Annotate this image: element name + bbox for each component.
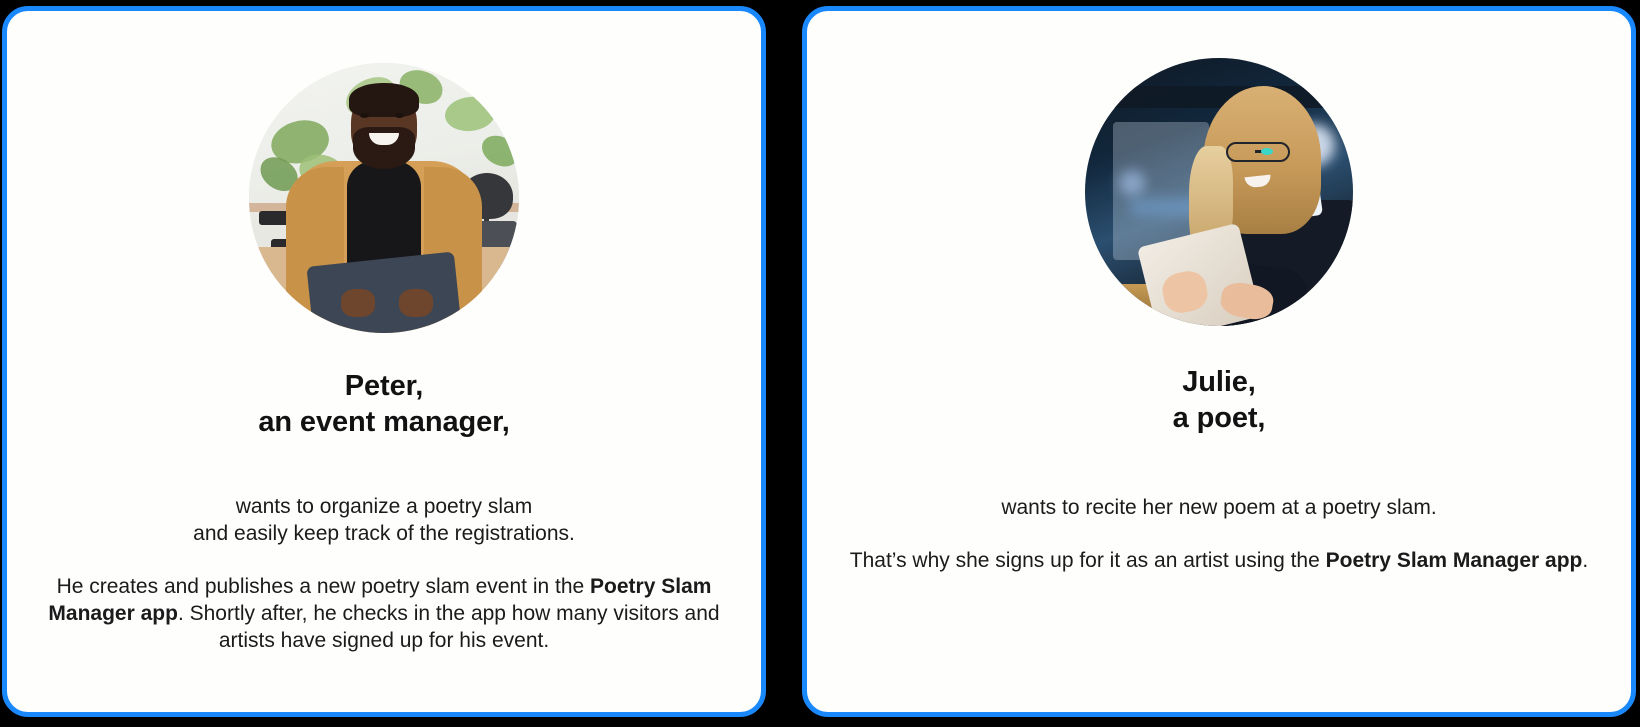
avatar-photo-julie [1085, 58, 1353, 326]
light-glow-icon [1119, 170, 1145, 196]
persona-goal-julie: wants to recite her new poem at a poetry… [849, 494, 1589, 521]
persona-goal-line-1: wants to organize a poetry slam [236, 495, 532, 518]
hand-shape [341, 289, 375, 317]
persona-name-line-1: Julie, [1182, 366, 1256, 398]
persona-goal-peter: wants to organize a poetry slam and easi… [64, 493, 704, 547]
detail-text-run: He creates and publishes a new poetry sl… [57, 575, 590, 598]
persona-name-line-2: a poet, [1173, 402, 1266, 434]
peter-scene-background [249, 63, 519, 333]
eye-shape [1261, 148, 1273, 155]
plant-leaf-icon [477, 130, 519, 171]
detail-text-run: . Shortly after, he checks in the app ho… [178, 602, 720, 652]
detail-text-run: . [1582, 549, 1588, 572]
persona-card-peter[interactable]: Peter, an event manager, wants to organi… [2, 6, 766, 717]
ceiling-beam-shape [1085, 86, 1353, 108]
hair-shape [349, 83, 419, 117]
eye-shape [395, 113, 404, 118]
persona-name-line-2: an event manager, [258, 406, 509, 438]
persona-name-julie: Julie, a poet, [1173, 364, 1266, 436]
persona-card-julie[interactable]: Julie, a poet, wants to recite her new p… [802, 6, 1636, 717]
hand-shape [399, 289, 433, 317]
persona-goal-line-1: wants to recite her new poem at a poetry… [1001, 496, 1436, 519]
laptop-icon [306, 251, 461, 333]
plant-leaf-icon [442, 93, 497, 135]
app-name-emphasis: Poetry Slam Manager app [1326, 549, 1583, 572]
avatar-photo-peter [249, 63, 519, 333]
persona-name-line-1: Peter, [345, 370, 423, 402]
persona-goal-line-2: and easily keep track of the registratio… [193, 522, 575, 545]
persona-detail-julie: That’s why she signs up for it as an art… [849, 547, 1589, 574]
persona-name-peter: Peter, an event manager, [258, 368, 509, 440]
detail-text-run: That’s why she signs up for it as an art… [850, 549, 1326, 572]
eyeglasses-icon [1226, 142, 1290, 162]
persona-detail-peter: He creates and publishes a new poetry sl… [39, 573, 729, 654]
julie-scene-background [1085, 58, 1353, 326]
persona-cards-board: Peter, an event manager, wants to organi… [0, 0, 1640, 727]
eye-shape [360, 113, 369, 118]
